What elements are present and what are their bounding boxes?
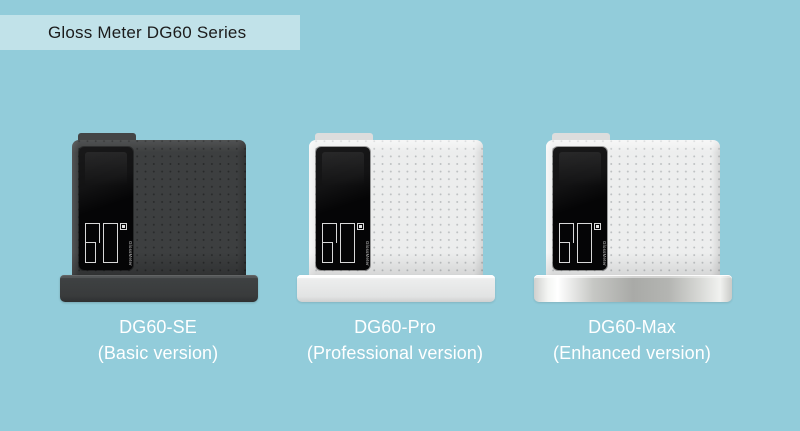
- lcd-digit-zero: [577, 223, 592, 263]
- display-brand-label: GlossMeter: [365, 241, 369, 266]
- device-base-stand: [297, 275, 495, 302]
- lcd-digit-six: [559, 223, 574, 263]
- device-base-lip: [297, 275, 495, 278]
- lcd-readout: [559, 223, 603, 263]
- device-base-stand: [534, 275, 732, 302]
- device-illustration: GlossMeter: [38, 128, 278, 308]
- lcd-digit-six: [322, 223, 337, 263]
- lcd-decimal-indicator-icon: [357, 223, 364, 230]
- lcd-readout: [322, 223, 366, 263]
- lcd-decimal-indicator-icon: [120, 223, 127, 230]
- device-illustration: GlossMeter: [512, 128, 752, 308]
- product-card-dg60-se: GlossMeter DG60-SE (Basic version): [38, 128, 278, 368]
- lcd-readout: [85, 223, 129, 263]
- product-card-dg60-max: GlossMeter DG60-Max (Enhanced version): [512, 128, 752, 368]
- product-variant-name: (Enhanced version): [512, 340, 752, 366]
- device-base-lip: [534, 275, 732, 278]
- device-display-panel: GlossMeter: [316, 147, 370, 270]
- device-illustration: GlossMeter: [275, 128, 515, 308]
- lcd-digit-zero: [340, 223, 355, 263]
- lcd-digit-six: [85, 223, 100, 263]
- display-brand-label: GlossMeter: [128, 241, 132, 266]
- display-brand-label: GlossMeter: [602, 241, 606, 266]
- device-base-lip: [60, 275, 258, 278]
- product-model-name: DG60-Max: [588, 317, 676, 337]
- lcd-digit-zero: [103, 223, 118, 263]
- device-display-panel: GlossMeter: [553, 147, 607, 270]
- product-variant-name: (Basic version): [38, 340, 278, 366]
- lcd-decimal-indicator-icon: [594, 223, 601, 230]
- product-row: GlossMeter DG60-SE (Basic version): [0, 0, 800, 431]
- product-caption: DG60-Pro (Professional version): [275, 314, 515, 366]
- device-display-panel: GlossMeter: [79, 147, 133, 270]
- product-model-name: DG60-Pro: [354, 317, 436, 337]
- product-caption: DG60-SE (Basic version): [38, 314, 278, 366]
- product-caption: DG60-Max (Enhanced version): [512, 314, 752, 366]
- device-base-stand: [60, 275, 258, 302]
- product-card-dg60-pro: GlossMeter DG60-Pro (Professional versio…: [275, 128, 515, 368]
- product-variant-name: (Professional version): [275, 340, 515, 366]
- product-lineup-banner-image: Gloss Meter DG60 Series: [0, 0, 800, 431]
- product-model-name: DG60-SE: [119, 317, 197, 337]
